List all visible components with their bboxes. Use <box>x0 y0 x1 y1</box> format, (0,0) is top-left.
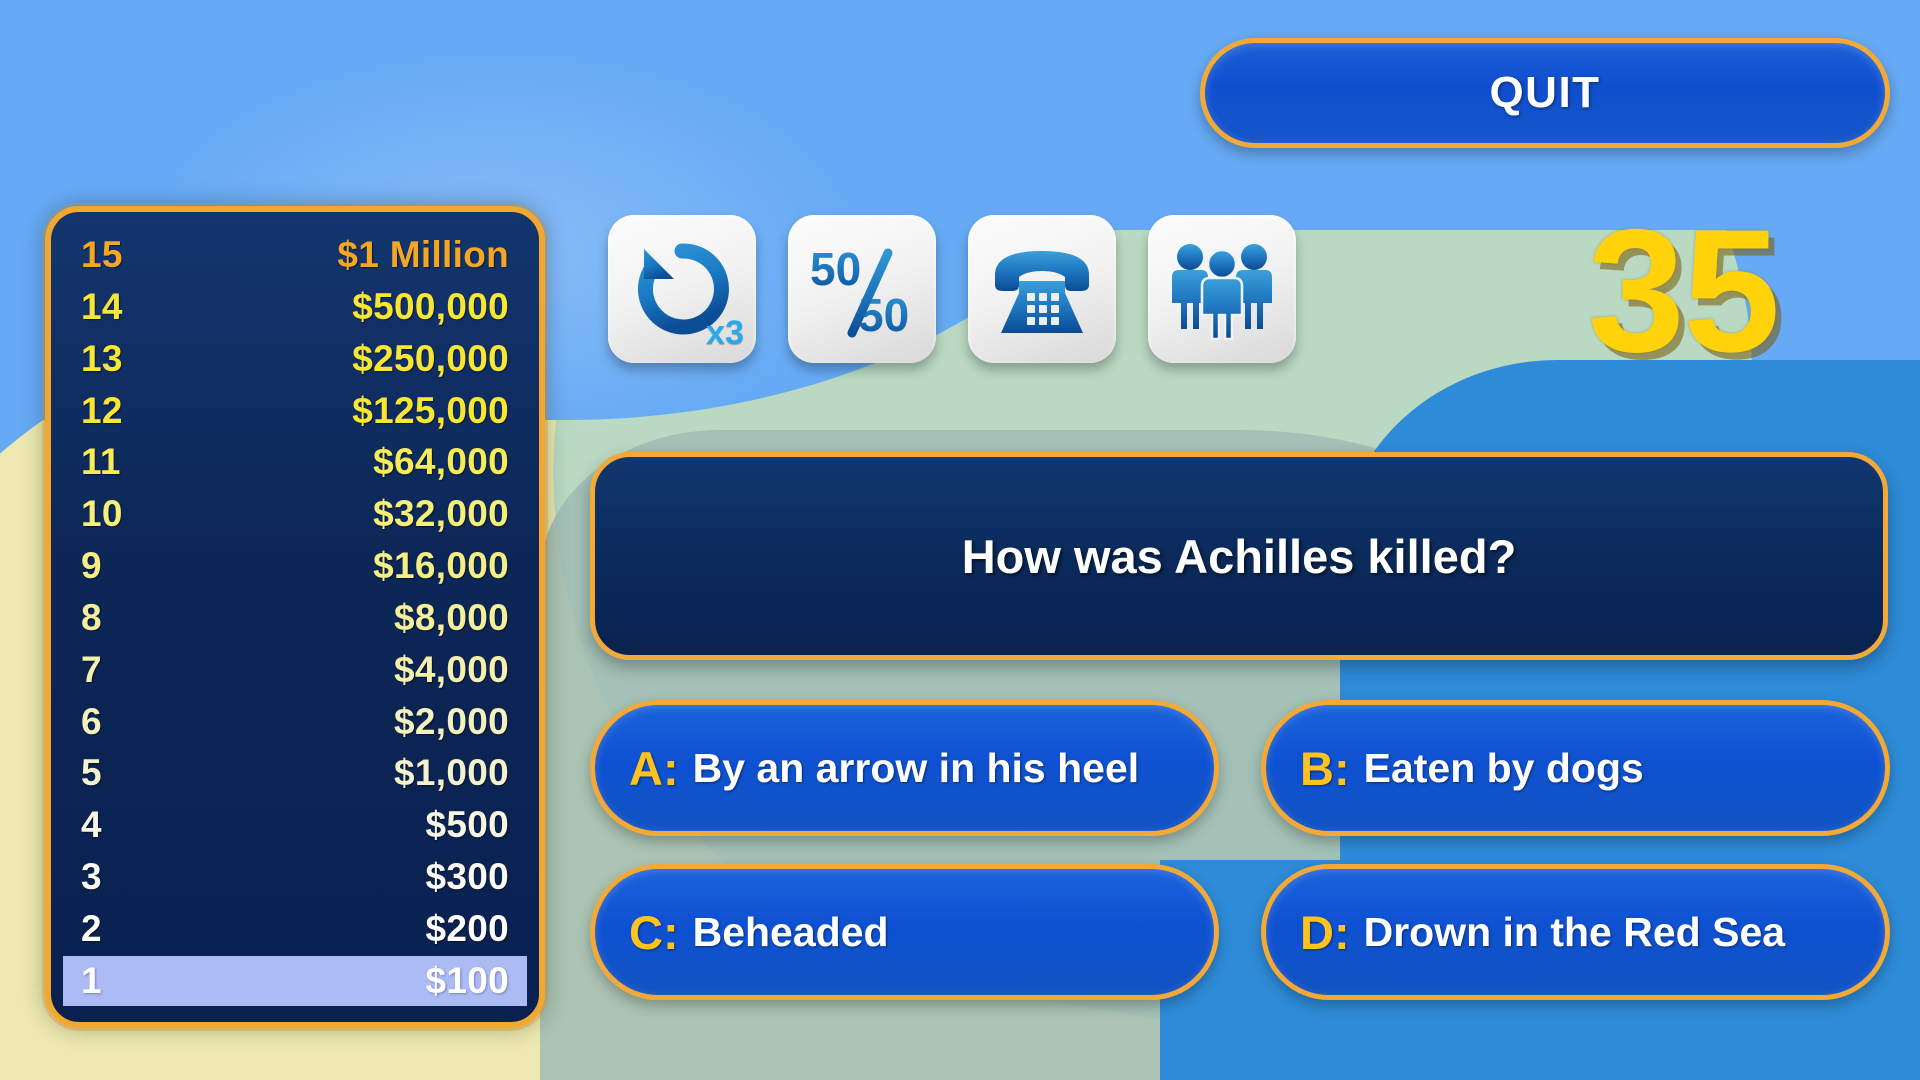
ladder-amount: $300 <box>173 852 515 902</box>
ladder-amount: $32,000 <box>173 489 515 539</box>
ladder-amount: $500,000 <box>173 282 515 332</box>
quit-button-label: QUIT <box>1489 68 1600 118</box>
ladder-row: 15$1 Million <box>63 230 527 280</box>
lifelines-bar: x3 50 50 <box>608 215 1296 363</box>
switch-question-lifeline[interactable]: x3 <box>608 215 756 363</box>
answer-text: Beheaded <box>693 909 889 956</box>
game-screen: 15$1 Million14$500,00013$250,00012$125,0… <box>0 0 1920 1080</box>
ladder-level: 2 <box>81 904 173 954</box>
ladder-level: 9 <box>81 541 173 591</box>
ladder-amount: $64,000 <box>173 437 515 487</box>
ladder-level: 1 <box>81 956 173 1006</box>
answer-grid: A:By an arrow in his heelB:Eaten by dogs… <box>590 700 1890 1000</box>
ladder-row: 9$16,000 <box>63 541 527 591</box>
ladder-level: 3 <box>81 852 173 902</box>
ladder-amount: $2,000 <box>173 697 515 747</box>
ask-the-audience-lifeline[interactable] <box>1148 215 1296 363</box>
question-box: How was Achilles killed? <box>590 452 1888 660</box>
ladder-row: 14$500,000 <box>63 282 527 332</box>
timer-value: 35 <box>1588 204 1779 379</box>
ladder-amount: $1 Million <box>173 230 515 280</box>
answer-text: Drown in the Red Sea <box>1364 909 1785 956</box>
money-ladder: 15$1 Million14$500,00013$250,00012$125,0… <box>45 206 545 1028</box>
ladder-level: 8 <box>81 593 173 643</box>
ladder-level: 13 <box>81 334 173 384</box>
phone-a-friend-lifeline[interactable] <box>968 215 1116 363</box>
ladder-level: 7 <box>81 645 173 695</box>
answer-letter: C: <box>629 905 679 960</box>
ladder-row: 11$64,000 <box>63 437 527 487</box>
answer-text: Eaten by dogs <box>1364 745 1644 792</box>
answer-letter: A: <box>629 741 679 796</box>
answer-option-b[interactable]: B:Eaten by dogs <box>1261 700 1890 836</box>
ladder-level: 6 <box>81 697 173 747</box>
ladder-amount: $8,000 <box>173 593 515 643</box>
ladder-level: 15 <box>81 230 173 280</box>
ladder-row: 12$125,000 <box>63 386 527 436</box>
three-people-icon <box>1164 237 1280 341</box>
ladder-row: 7$4,000 <box>63 645 527 695</box>
ladder-level: 12 <box>81 386 173 436</box>
answer-letter: D: <box>1300 905 1350 960</box>
ladder-level: 5 <box>81 748 173 798</box>
ladder-row: 5$1,000 <box>63 748 527 798</box>
ladder-row: 2$200 <box>63 904 527 954</box>
ladder-level: 14 <box>81 282 173 332</box>
answer-option-c[interactable]: C:Beheaded <box>590 864 1219 1000</box>
answer-letter: B: <box>1300 741 1350 796</box>
ladder-level: 4 <box>81 800 173 850</box>
ladder-row-current: 1$100 <box>63 956 527 1006</box>
ladder-amount: $100 <box>173 956 515 1006</box>
ladder-level: 11 <box>81 437 173 487</box>
fifty-fifty-lifeline[interactable]: 50 50 <box>788 215 936 363</box>
answer-option-a[interactable]: A:By an arrow in his heel <box>590 700 1219 836</box>
ladder-row: 4$500 <box>63 800 527 850</box>
ladder-amount: $4,000 <box>173 645 515 695</box>
svg-text:50: 50 <box>810 243 861 295</box>
ladder-amount: $500 <box>173 800 515 850</box>
ladder-amount: $125,000 <box>173 386 515 436</box>
ladder-row: 6$2,000 <box>63 697 527 747</box>
ladder-amount: $200 <box>173 904 515 954</box>
ladder-amount: $16,000 <box>173 541 515 591</box>
ladder-level: 10 <box>81 489 173 539</box>
answer-option-d[interactable]: D:Drown in the Red Sea <box>1261 864 1890 1000</box>
fifty-fifty-icon: 50 50 <box>806 237 918 341</box>
quit-button[interactable]: QUIT <box>1200 38 1890 148</box>
answer-text: By an arrow in his heel <box>693 745 1140 792</box>
ladder-amount: $1,000 <box>173 748 515 798</box>
countdown-timer: 35 <box>1558 196 1808 386</box>
question-text: How was Achilles killed? <box>922 529 1557 584</box>
ladder-row: 13$250,000 <box>63 334 527 384</box>
ladder-row: 10$32,000 <box>63 489 527 539</box>
telephone-icon <box>987 241 1097 337</box>
ladder-row: 8$8,000 <box>63 593 527 643</box>
ladder-row: 3$300 <box>63 852 527 902</box>
switch-count-badge: x3 <box>706 314 744 353</box>
ladder-amount: $250,000 <box>173 334 515 384</box>
